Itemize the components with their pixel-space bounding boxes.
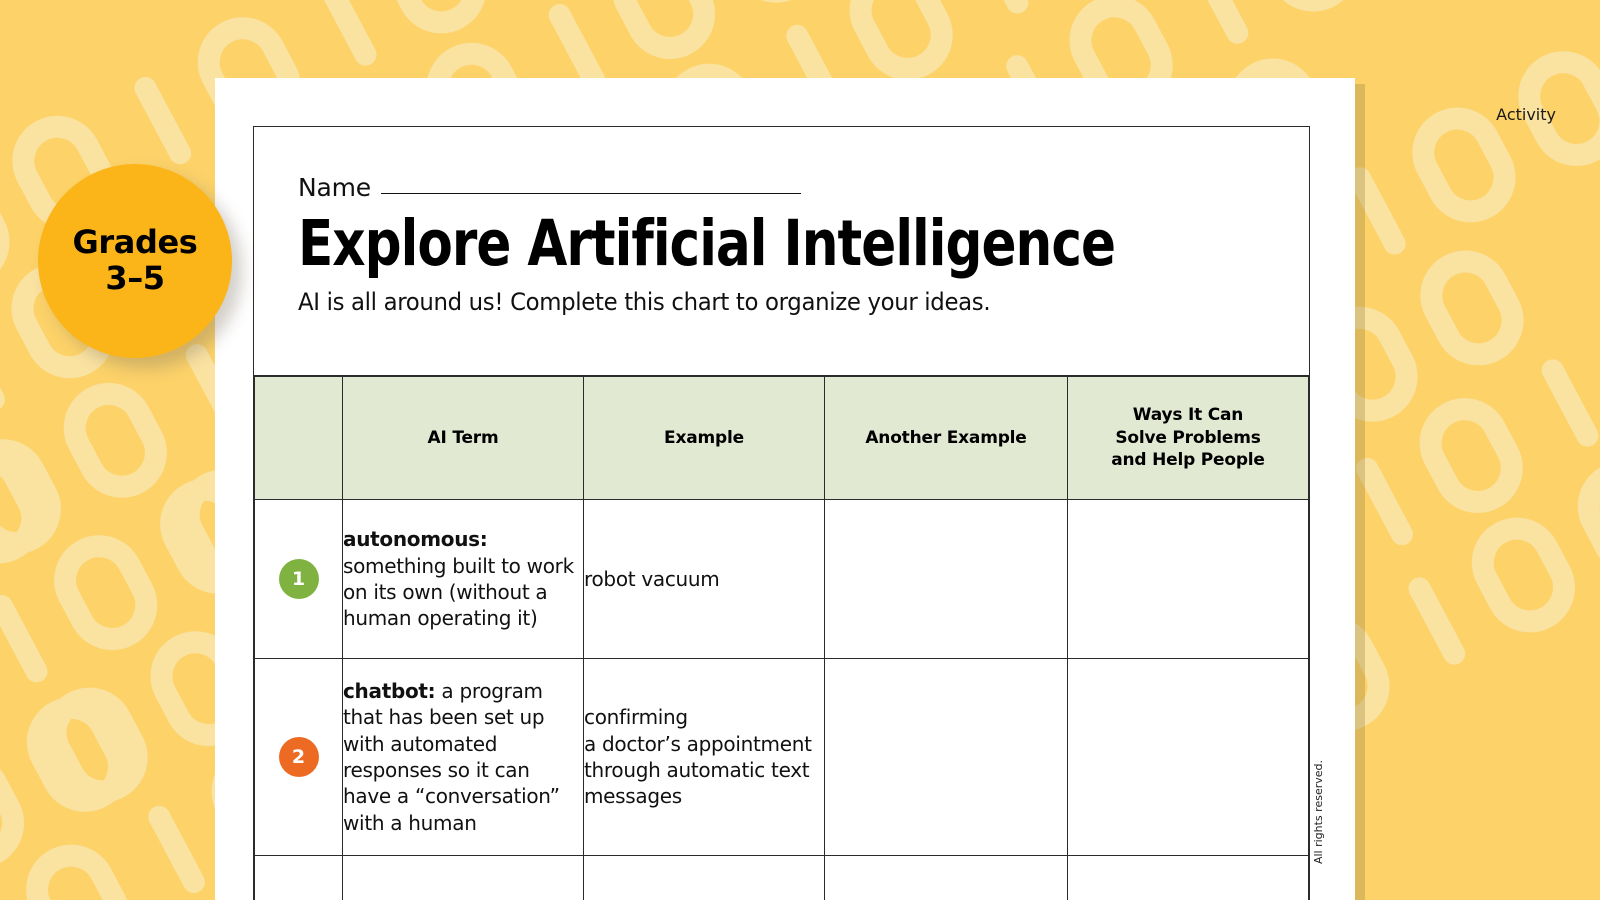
table-row xyxy=(255,856,1309,900)
row-example-cell[interactable]: robot vacuum xyxy=(584,500,825,659)
row-example-cell[interactable]: confirming a doctor’s appointment throug… xyxy=(584,659,825,856)
ways-header-line-3: and Help People xyxy=(1076,449,1300,471)
term-word: autonomous: xyxy=(343,527,487,551)
grades-badge-line-2: 3–5 xyxy=(105,261,164,297)
example-line-1: confirming xyxy=(584,704,824,730)
name-write-in-line[interactable] xyxy=(381,192,801,194)
page-title: Explore Artificial Intelligence xyxy=(298,212,1091,276)
table-header-ways-to-help: Ways It Can Solve Problems and Help Peop… xyxy=(1068,377,1309,500)
row-number-badge: 2 xyxy=(279,737,319,777)
table-header-number-blank xyxy=(255,377,343,500)
row-term-cell: chatbot: a program that has been set up … xyxy=(343,659,584,856)
ways-header-line-2: Solve Problems xyxy=(1076,427,1300,449)
grades-badge: Grades 3–5 xyxy=(38,164,232,358)
name-label: Name xyxy=(298,173,371,202)
row-ways-cell[interactable] xyxy=(1068,500,1309,659)
row-ways-cell[interactable] xyxy=(1068,856,1309,900)
ways-header-line-1: Ways It Can xyxy=(1076,404,1300,426)
worksheet-header: Name Explore Artificial Intelligence AI … xyxy=(254,127,1309,376)
example-line-2: a doctor’s appointment through automatic… xyxy=(584,731,824,810)
ai-terms-table: AI Term Example Another Example Ways It … xyxy=(254,376,1309,900)
page-subtitle: AI is all around us! Complete this chart… xyxy=(298,288,1217,316)
copyright-notice: All rights reserved. xyxy=(1312,760,1325,864)
grades-badge-line-1: Grades xyxy=(73,225,198,261)
term-definition: something built to work on its own (with… xyxy=(343,554,574,631)
table-header-row: AI Term Example Another Example Ways It … xyxy=(255,377,1309,500)
worksheet-frame: Name Explore Artificial Intelligence AI … xyxy=(253,126,1310,900)
row-number-cell: 2 xyxy=(255,659,343,856)
row-term-cell[interactable] xyxy=(343,856,584,900)
row-another-example-cell[interactable] xyxy=(825,856,1068,900)
table-row: 1 autonomous: something built to work on… xyxy=(255,500,1309,659)
row-ways-cell[interactable] xyxy=(1068,659,1309,856)
activity-label: Activity xyxy=(1496,105,1556,124)
row-another-example-cell[interactable] xyxy=(825,659,1068,856)
row-number-cell: 1 xyxy=(255,500,343,659)
row-number-cell xyxy=(255,856,343,900)
table-row: 2 chatbot: a program that has been set u… xyxy=(255,659,1309,856)
table-header-ai-term: AI Term xyxy=(343,377,584,500)
name-field-row[interactable]: Name xyxy=(298,173,1265,202)
row-another-example-cell[interactable] xyxy=(825,500,1068,659)
worksheet-screen: Activity All rights reserved. Grades 3–5… xyxy=(0,0,1600,900)
row-example-cell[interactable] xyxy=(584,856,825,900)
term-word: chatbot: xyxy=(343,679,435,703)
row-number-badge: 1 xyxy=(279,559,319,599)
row-term-cell: autonomous: something built to work on i… xyxy=(343,500,584,659)
table-header-another-example: Another Example xyxy=(825,377,1068,500)
table-header-example: Example xyxy=(584,377,825,500)
